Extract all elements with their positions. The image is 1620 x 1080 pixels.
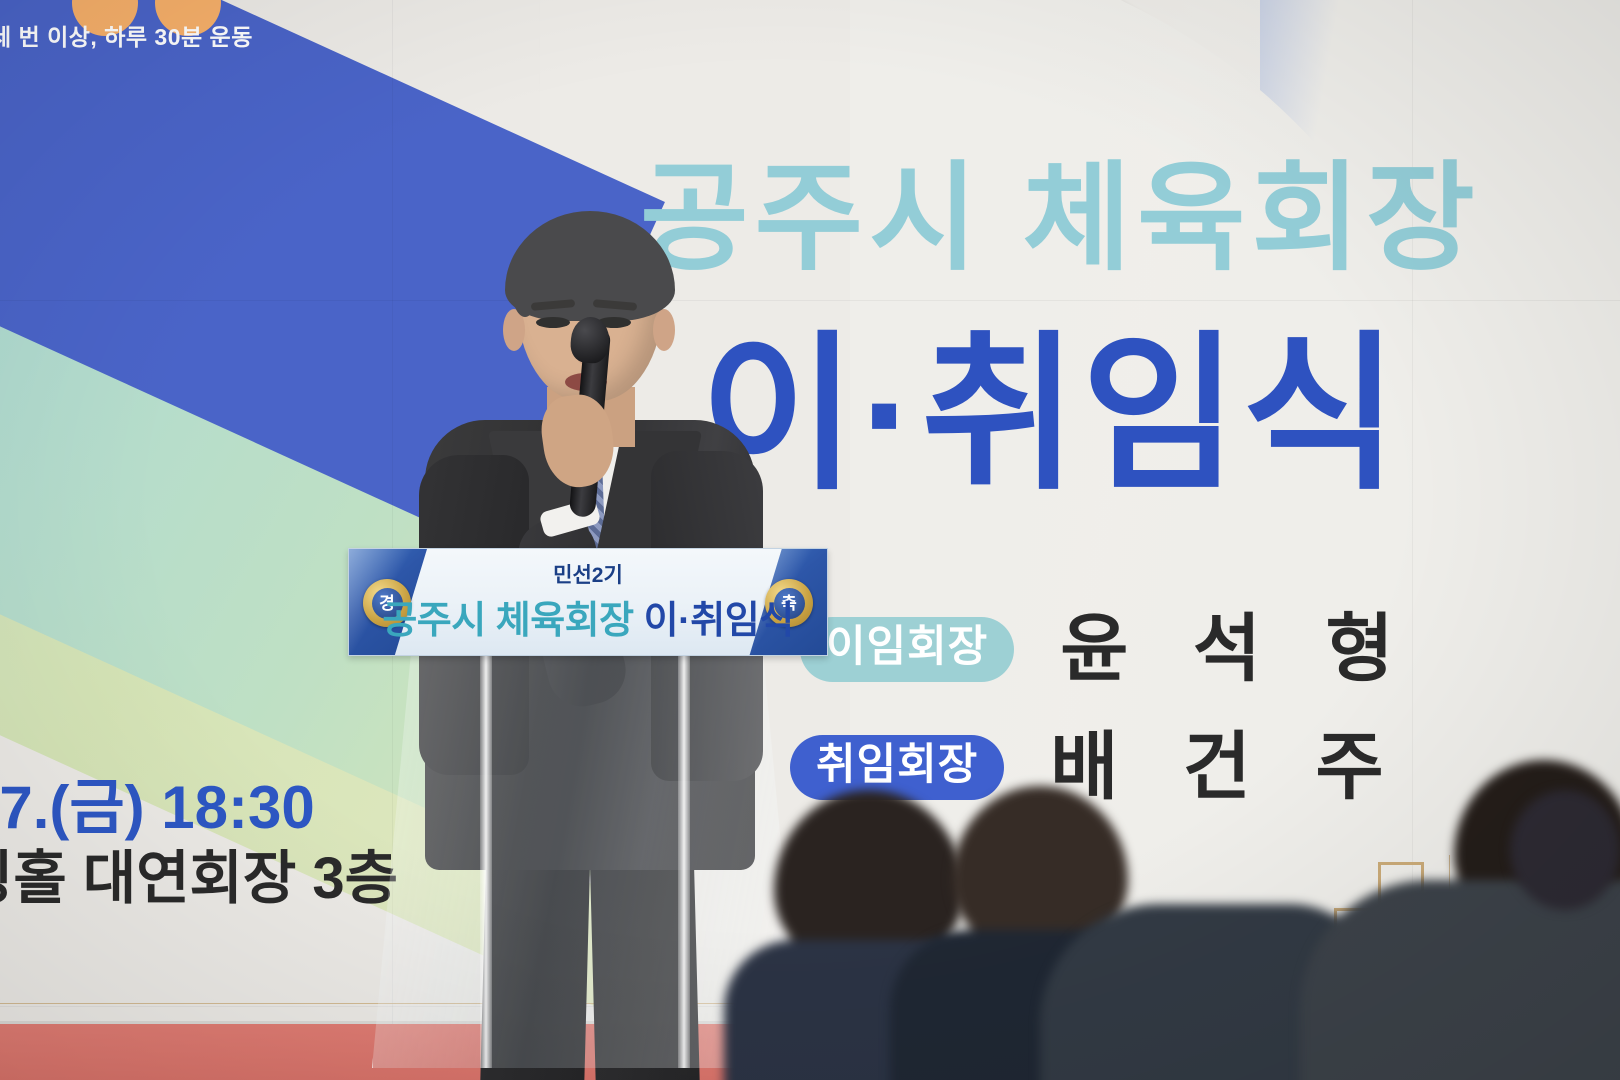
banner-seam-horizontal — [0, 300, 1620, 301]
campaign-slogan-text: 세 번 이상, 하루 30분 운동 — [0, 18, 253, 52]
backdrop-headline-top: 공주시 체육회장 — [640, 160, 1481, 278]
backdrop-headline-bottom: 이·취임식 — [700, 330, 1402, 500]
outgoing-chairman-name: 윤 석 형 — [1060, 612, 1415, 686]
audience-member — [1510, 790, 1620, 910]
outgoing-chairman-row: 이임회장 윤 석 형 — [800, 612, 1416, 686]
event-time: 18:30 — [161, 774, 314, 841]
speaker-eye-left — [536, 317, 570, 328]
outgoing-chairman-label: 이임회장 — [800, 617, 1014, 682]
podium-sign-title-teal: 공주시 체육회장 — [382, 600, 633, 642]
photo-scene: 세 번 이상, 하루 30분 운동 공주시 체육회장 이·취임식 이임회장 윤 … — [0, 0, 1620, 1080]
podium-sign-kicker: 민선2기 — [349, 559, 827, 589]
event-venue: 딩홀 대연회장 3층 — [0, 850, 398, 908]
podium-sign: 경 축 민선2기 공주시 체육회장 이·취임식 — [348, 548, 828, 656]
event-date-time: 27.(금) 18:30 — [0, 778, 315, 838]
podium-sign-title: 공주시 체육회장 이·취임식 — [349, 589, 827, 644]
event-date: 27.(금) — [0, 774, 145, 841]
audience-shoulders — [1300, 880, 1620, 1080]
podium-sign-title-blue: 이·취임식 — [644, 600, 794, 642]
audience-head — [1510, 790, 1620, 910]
podium-post-right — [678, 612, 690, 1068]
speaker-ear-right — [653, 309, 675, 351]
podium-post-left — [480, 612, 492, 1068]
